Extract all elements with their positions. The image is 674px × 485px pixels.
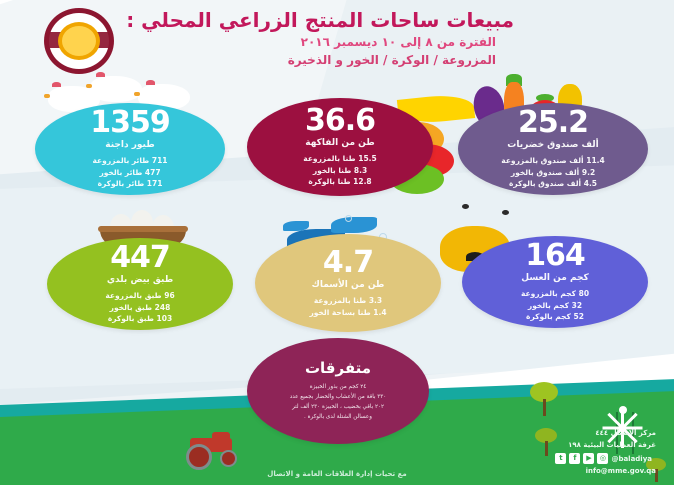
stat-card-eggs: 447 طبق بيض بلدي 96 طبق بالمزروعة 248 طب… [47,238,233,330]
bee-icon [462,204,469,209]
fish-shape [283,221,309,231]
misc-row: ٣٣٠ باقة من الأعشاب والخضار بجميع عدد [290,393,387,403]
breakdown-row: 9.2 ألف صندوق بالخور [501,167,604,179]
logo-mme-qatar [40,6,118,76]
hen-comb [146,80,155,85]
hen-comb [52,82,61,87]
windmill-hub [619,406,627,414]
stat-breakdown: 711 طائر بالمزروعة 477 طائر بالخور 171 ط… [92,155,167,190]
footer-contact-center: مركز الاتصال ٤٤٤ [595,429,656,437]
stat-unit: طن من الأسماك [312,280,385,290]
breakdown-row: 4.5 ألف صندوق بالوكرة [501,178,604,190]
nest-rim [98,226,188,232]
instagram-icon[interactable]: ◎ [597,453,608,464]
youtube-icon[interactable]: ▶ [583,453,594,464]
stat-breakdown: 11.4 ألف صندوق بالمزروعة 9.2 ألف صندوق ب… [501,155,604,190]
facebook-icon[interactable]: f [569,453,580,464]
breakdown-row: 477 طائر بالخور [92,167,167,179]
breakdown-row: 1.4 طنا بساحة الخور [309,307,386,319]
breakdown-row: 711 طائر بالمزروعة [92,155,167,167]
hen-comb [96,72,105,77]
stat-card-poultry: 1359 طيور داجنة 711 طائر بالمزروعة 477 ط… [35,103,225,195]
stat-value: 36.6 [305,106,375,136]
fish-shape [331,217,377,233]
breakdown-row: 12.8 طنا بالوكرة [303,176,376,188]
stat-unit: طيور داجنة [105,140,154,150]
twitter-icon[interactable]: t [555,453,566,464]
breakdown-row: 96 طبق بالمزروعة [105,290,174,302]
hen-beak [86,84,92,88]
breakdown-row: 32 كجم بالخور [521,300,589,312]
hen-shape [90,76,142,102]
breakdown-row: 248 طبق بالخور [105,302,174,314]
breakdown-row: 103 طبق بالوكرة [105,313,174,325]
stat-card-fish: 4.7 طن من الأسماك 3.3 طنا بالمزروعة 1.4 … [255,234,441,332]
stat-unit: ألف صندوق خضريات [507,140,598,150]
breakdown-row: 8.3 طنا بالخور [303,165,376,177]
breakdown-row: 171 طائر بالوكرة [92,178,167,190]
hen-beak [44,94,50,98]
stat-card-honey: 164 كجم من العسل 80 كجم بالمزروعة 32 كجم… [462,236,648,328]
stat-breakdown: 3.3 طنا بالمزروعة 1.4 طنا بساحة الخور [309,295,386,318]
misc-body: ٢٤ كجم من بذور الخبيزة ٣٣٠ باقة من الأعش… [274,383,403,422]
footer-social-links[interactable]: t f ▶ ◎ @baladiya [555,453,656,464]
tree-trunk [543,399,546,416]
stat-unit: كجم من العسل [521,273,588,283]
subtitle-locations: المزروعة / الوكرة / الخور و الذخيرة [288,53,496,67]
bee-icon [502,210,509,215]
footer-credit: مع تحيات إدارة العلاقات العامة و الاتصال [0,470,674,478]
breakdown-row: 80 كجم بالمزروعة [521,288,589,300]
stat-value: 4.7 [323,248,373,278]
stat-value: 25.2 [518,108,588,138]
misc-row: ٢٤ كجم من بذور الخبيزة [290,383,387,393]
hen-beak [134,92,140,96]
page-title: مبيعات ساحات المنتج الزراعي المحلي : [126,8,514,32]
subtitle-period: الفترة من ٨ إلى ١٠ ديسمبر ٢٠١٦ [301,35,496,49]
logo-core-inner [62,26,96,56]
stat-breakdown: 80 كجم بالمزروعة 32 كجم بالخور 52 كجم با… [521,288,589,323]
poster-footer: مركز الاتصال ٤٤٤ غرفة العمليات البيئية ١… [0,419,674,485]
breakdown-row: 3.3 طنا بالمزروعة [309,295,386,307]
stat-value: 1359 [90,108,170,138]
infographic-poster: مبيعات ساحات المنتج الزراعي المحلي : الف… [0,0,674,485]
footer-operations-room: غرفة العمليات البيئية ١٩٨ [568,441,656,449]
stat-unit: طن من الفاكهة [305,138,374,148]
stat-card-vegetables: 25.2 ألف صندوق خضريات 11.4 ألف صندوق بال… [458,103,648,195]
stat-value: 447 [110,243,170,273]
misc-heading: متفرقات [305,359,371,377]
tree-icon [530,382,558,416]
stat-unit: طبق بيض بلدي [107,275,173,285]
footer-social-handle: @baladiya [611,455,652,463]
stat-card-fruit: 36.6 طن من الفاكهة 15.5 طنا بالمزروعة 8.… [247,98,433,196]
breakdown-row: 11.4 ألف صندوق بالمزروعة [501,155,604,167]
bubble-shape [345,215,352,222]
breakdown-row: 15.5 طنا بالمزروعة [303,153,376,165]
stat-value: 164 [525,241,585,271]
stat-breakdown: 15.5 طنا بالمزروعة 8.3 طنا بالخور 12.8 ط… [303,153,376,188]
breakdown-row: 52 كجم بالوكرة [521,311,589,323]
stat-breakdown: 96 طبق بالمزروعة 248 طبق بالخور 103 طبق … [105,290,174,325]
misc-row: ٢٠٢ باقي بخضيب ، الخبيزة ٢٣٠ ألف لتر [290,403,387,413]
